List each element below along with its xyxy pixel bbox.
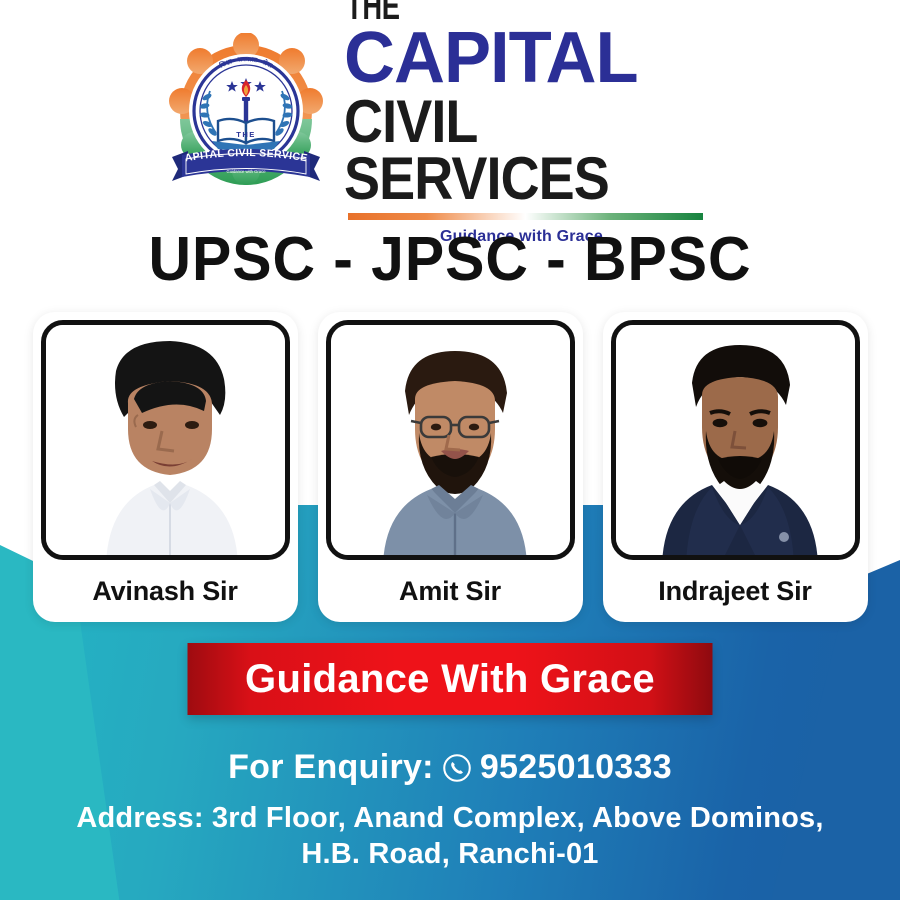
address-line-2: H.B. Road, Ranchi-01 (0, 836, 900, 872)
faculty-card[interactable]: Amit Sir (318, 312, 583, 622)
avinash-sir-photo (46, 325, 290, 560)
indrajeet-sir-photo (616, 325, 860, 560)
faculty-card-list: Avinash Sir (0, 312, 900, 622)
phone-number[interactable]: 9525010333 (480, 748, 672, 787)
wordmark-capital: CAPITAL (344, 25, 726, 93)
slogan-banner: Guidance With Grace (188, 643, 713, 715)
amit-sir-photo (331, 325, 575, 560)
faculty-card[interactable]: Avinash Sir (33, 312, 298, 622)
poster-root: शिक्षा · सफलता · सेवा (0, 0, 900, 900)
faculty-name: Avinash Sir (92, 560, 237, 622)
enquiry-label: For Enquiry: (228, 748, 434, 787)
brand-header: शिक्षा · सफलता · सेवा (0, 18, 900, 218)
emblem-center-word: THE (236, 130, 255, 139)
enquiry-line: For Enquiry: 9525010333 (0, 748, 900, 787)
faculty-name: Indrajeet Sir (658, 560, 811, 622)
faculty-photo-frame (611, 320, 860, 560)
faculty-name: Amit Sir (399, 560, 501, 622)
emblem-ribbon-subtext: Guidance with Grace (226, 169, 266, 174)
address-line-1: Address: 3rd Floor, Anand Complex, Above… (0, 800, 900, 836)
institute-emblem-logo: शिक्षा · सफलता · सेवा (166, 33, 326, 203)
tricolor-bar (348, 213, 703, 220)
slogan-text: Guidance With Grace (245, 657, 655, 702)
phone-circle-icon (442, 753, 472, 783)
wordmark-civil-services: CIVIL SERVICES (344, 93, 695, 208)
brand-wordmark: THE CAPITAL CIVIL SERVICES Guidance with… (344, 0, 734, 246)
faculty-card[interactable]: Indrajeet Sir (603, 312, 868, 622)
exam-headline: UPSC - JPSC - BPSC (23, 224, 878, 295)
address-block: Address: 3rd Floor, Anand Complex, Above… (0, 800, 900, 873)
faculty-photo-frame (41, 320, 290, 560)
emblem-svg: शिक्षा · सफलता · सेवा (166, 33, 326, 203)
faculty-photo-frame (326, 320, 575, 560)
